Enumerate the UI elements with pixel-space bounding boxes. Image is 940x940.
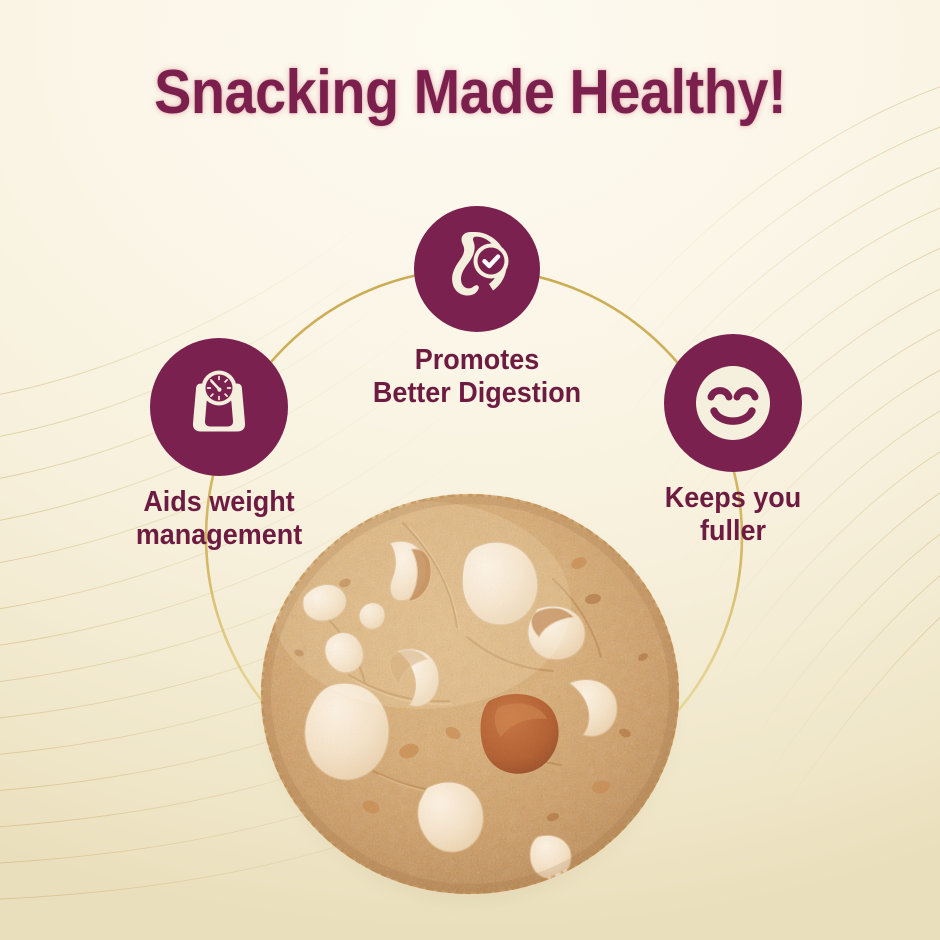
digestion-icon-bubble — [414, 206, 540, 332]
weighing-scale-icon — [171, 359, 267, 455]
digestion-caption-line2: Better Digestion — [373, 377, 581, 410]
stomach-check-icon — [431, 223, 523, 315]
poster-canvas: Promotes Better Digestion — [0, 0, 940, 940]
smiling-face-icon — [683, 353, 783, 453]
fuller-icon-bubble — [664, 334, 802, 472]
benefit-digestion: Promotes Better Digestion — [414, 206, 540, 332]
almond-cookie-graphic — [253, 487, 687, 907]
digestion-caption: Promotes Better Digestion — [373, 344, 581, 410]
benefit-fuller: Keeps you fuller — [664, 334, 802, 472]
page-title: Snacking Made Healthy! — [154, 62, 786, 124]
benefit-weight: Aids weight management — [150, 338, 288, 476]
digestion-caption-line1: Promotes — [373, 344, 581, 377]
product-image — [253, 487, 687, 907]
headline-area: Snacking Made Healthy! — [0, 62, 940, 124]
weight-icon-bubble — [150, 338, 288, 476]
